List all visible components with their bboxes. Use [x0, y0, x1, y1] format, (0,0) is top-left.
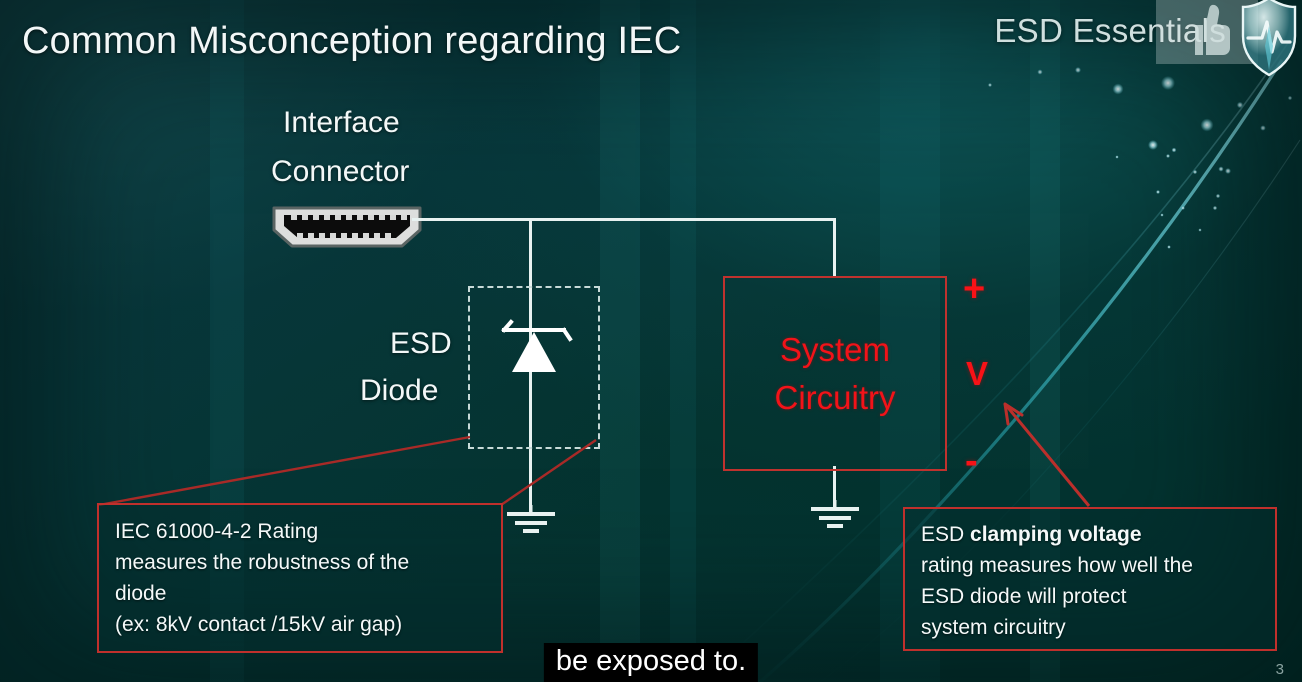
- callout-left-line-1: IEC 61000-4-2 Rating: [115, 516, 487, 547]
- callout-right-line-1: ESD clamping voltage: [921, 519, 1261, 550]
- page-number: 3: [1276, 661, 1284, 678]
- callout-right-bold: clamping voltage: [970, 523, 1142, 546]
- ground-symbol-diode: [503, 505, 559, 535]
- diode-label: Diode: [360, 374, 438, 408]
- system-circuitry-box: System Circuitry: [723, 276, 947, 471]
- esd-label: ESD: [390, 327, 452, 361]
- wire-system-in: [833, 219, 836, 277]
- hdmi-connector-icon: [268, 204, 426, 250]
- shield-pulse-logo: [1238, 0, 1300, 78]
- slide-canvas: Common Misconception regarding IEC ESD E…: [0, 0, 1302, 682]
- video-caption: be exposed to.: [544, 643, 758, 682]
- callout-right-line-2: rating measures how well the: [921, 550, 1261, 581]
- page-title: Common Misconception regarding IEC: [22, 20, 681, 63]
- tvs-zener-diode-symbol: [494, 310, 574, 400]
- callout-iec-rating: IEC 61000-4-2 Rating measures the robust…: [97, 503, 503, 653]
- wire-top: [412, 218, 836, 221]
- polarity-minus-marker: -: [965, 440, 978, 483]
- polarity-plus-marker: +: [963, 268, 985, 311]
- system-circuitry-line1: System: [780, 326, 890, 374]
- voltage-marker: V: [966, 355, 988, 393]
- callout-clamping-voltage: ESD clamping voltage rating measures how…: [903, 507, 1277, 651]
- callout-left-line-2: measures the robustness of the: [115, 547, 487, 578]
- connector-label: Connector: [271, 155, 409, 189]
- ground-symbol-system: [807, 500, 863, 530]
- callout-left-line-4: (ex: 8kV contact /15kV air gap): [115, 609, 487, 640]
- callout-right-line-4: system circuitry: [921, 612, 1261, 643]
- system-circuitry-line2: Circuitry: [775, 374, 896, 422]
- callout-left-line-3: diode: [115, 578, 487, 609]
- callout-right-prefix: ESD: [921, 523, 970, 546]
- interface-label: Interface: [283, 106, 400, 140]
- callout-right-line-3: ESD diode will protect: [921, 581, 1261, 612]
